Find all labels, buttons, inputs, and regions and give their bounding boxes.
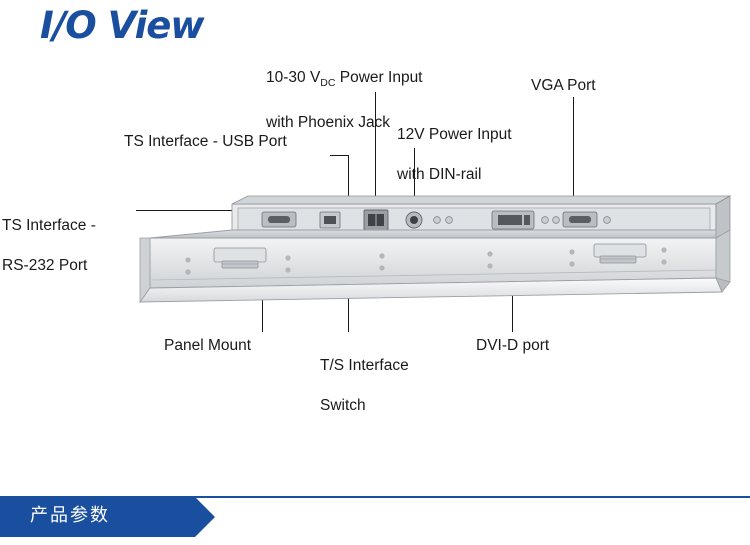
callout-power-input-line2: with Phoenix Jack xyxy=(266,114,390,131)
device-io-drawing xyxy=(0,160,750,320)
callout-power-input-subscript: DC xyxy=(320,77,335,89)
callout-vga-port: VGA Port xyxy=(531,76,596,96)
footer: 产品参数 xyxy=(0,473,750,545)
page-title: I/O View xyxy=(40,4,204,47)
leader-line-ts-usb-h xyxy=(330,155,348,156)
footer-label: 产品参数 xyxy=(30,501,110,527)
callout-ts-switch-line1: T/S Interface xyxy=(320,357,409,374)
callout-power-input-line1: 10-30 VDC Power Input xyxy=(266,69,423,86)
callout-dvi-d-port: DVI-D port xyxy=(476,336,549,356)
callout-ts-usb-port: TS Interface - USB Port xyxy=(124,132,287,152)
callout-ts-interface-switch: T/S Interface Switch xyxy=(320,336,409,416)
callout-ts-switch-line2: Switch xyxy=(320,397,366,414)
callout-panel-mount: Panel Mount xyxy=(164,336,251,356)
callout-din-rail-line1: 12V Power Input xyxy=(397,126,512,143)
